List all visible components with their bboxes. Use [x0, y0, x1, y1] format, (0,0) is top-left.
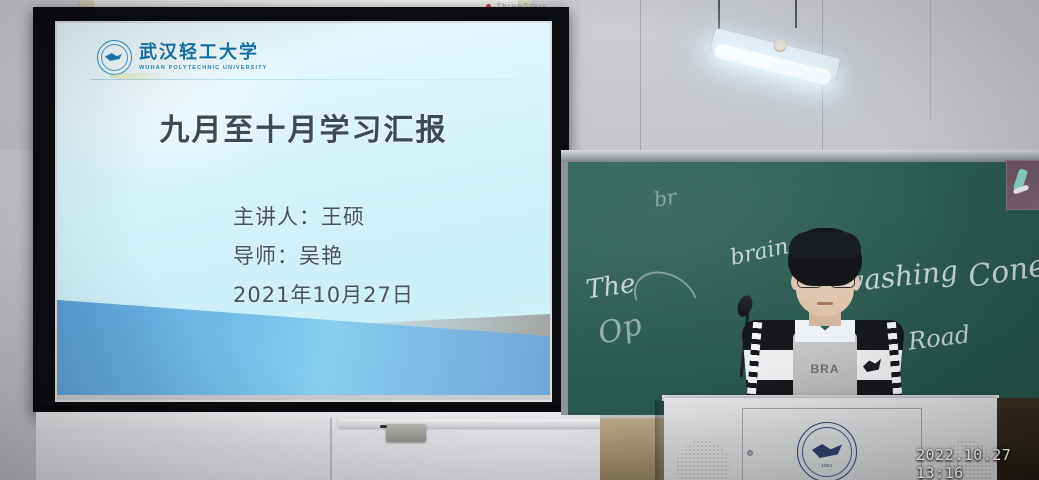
- podium-lock-icon: [747, 450, 753, 456]
- presenter: BRA: [733, 228, 913, 418]
- blackboard-top-rail: [561, 150, 1039, 162]
- university-logo: 武汉轻工大学 WUHAN POLYTECHNIC UNIVERSITY: [97, 40, 268, 75]
- logo-text-block: 武汉轻工大学 WUHAN POLYTECHNIC UNIVERSITY: [139, 44, 268, 71]
- projection-screen-frame: 武汉轻工大学 WUHAN POLYTECHNIC UNIVERSITY 九月至十…: [33, 7, 569, 412]
- board-eraser: [386, 424, 426, 442]
- wall-poster: [1006, 160, 1039, 210]
- whiteboard-seam: [330, 418, 332, 480]
- header-divider: [91, 79, 521, 80]
- logo-chinese-name: 武汉轻工大学: [139, 44, 268, 62]
- slide-bottom-edge: [57, 395, 550, 400]
- camera-timestamp: 2022.10.27 13:16: [916, 446, 1039, 480]
- hair-fringe: [789, 232, 861, 258]
- podium-university-emblem: 1951: [797, 422, 857, 480]
- slide-body-lines: 主讲人：王硕 导师：吴艳 2021年10月27日: [233, 201, 414, 318]
- slide-title: 九月至十月学习汇报: [57, 105, 550, 149]
- lamp-suspension-rod: [795, 0, 797, 28]
- slide-line-speaker: 主讲人：王硕: [233, 201, 414, 231]
- sweatshirt-print: BRA: [799, 362, 851, 376]
- slide-line-date: 2021年10月27日: [233, 279, 414, 309]
- university-seal-icon: [97, 40, 132, 75]
- emblem-bird-icon: [812, 444, 842, 458]
- presentation-slide: 武汉轻工大学 WUHAN POLYTECHNIC UNIVERSITY 九月至十…: [57, 23, 550, 400]
- ceiling-seam: [930, 0, 931, 120]
- emblem-year-label: 1951: [798, 463, 856, 468]
- logo-english-name: WUHAN POLYTECHNIC UNIVERSITY: [139, 65, 268, 71]
- classroom-scene: ThreeStars 武汉轻工大学 WUHAN POLYTECHNIC UNIV…: [0, 0, 1039, 480]
- chalk-note: br: [652, 184, 678, 212]
- mouth: [817, 302, 833, 305]
- speaker-grille: [676, 440, 730, 480]
- left-wall: [0, 150, 36, 480]
- slide-line-advisor: 导师：吴艳: [233, 240, 414, 270]
- ceiling-seam: [640, 0, 641, 160]
- projection-screen-surface: 武汉轻工大学 WUHAN POLYTECHNIC UNIVERSITY 九月至十…: [55, 21, 552, 402]
